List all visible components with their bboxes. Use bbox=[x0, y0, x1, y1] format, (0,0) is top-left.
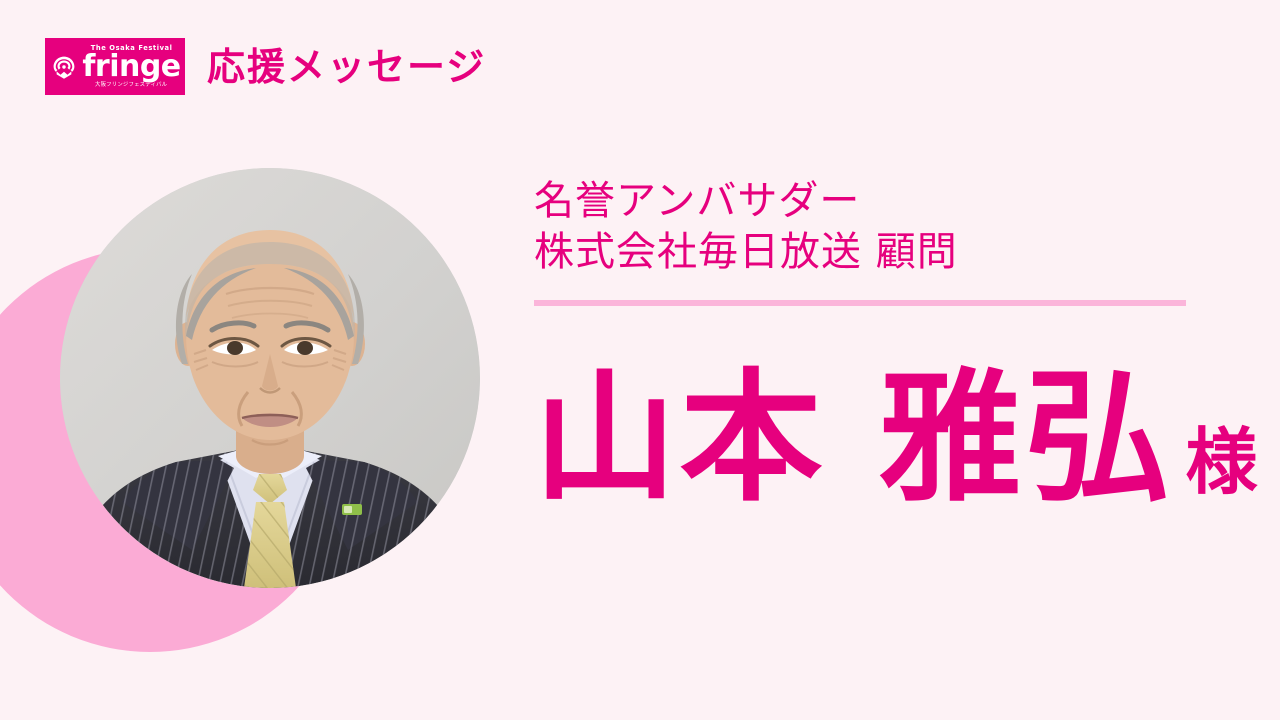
logo-japanese-name: 大阪フリンジフェスティバル bbox=[95, 83, 167, 88]
person-name: 山本 雅弘 bbox=[534, 368, 1171, 510]
role-line-2: 株式会社毎日放送 顧問 bbox=[534, 227, 1194, 278]
header: The Osaka Festival fringe 大阪フリンジフェスティバル … bbox=[45, 38, 486, 95]
logo-tagline: The Osaka Festival bbox=[91, 45, 173, 52]
page-title: 応援メッセージ bbox=[207, 48, 486, 86]
logo-wordmark: fringe bbox=[82, 53, 180, 81]
name-honorific: 様 bbox=[1185, 426, 1257, 498]
name-row: 山本 雅弘 様 bbox=[534, 368, 1194, 510]
fringe-logo-badge[interactable]: The Osaka Festival fringe 大阪フリンジフェスティバル bbox=[45, 38, 185, 95]
message-slide: The Osaka Festival fringe 大阪フリンジフェスティバル … bbox=[0, 0, 1280, 720]
info-column: 名誉アンバサダー 株式会社毎日放送 顧問 山本 雅弘 様 bbox=[534, 176, 1194, 510]
role-line-1: 名誉アンバサダー bbox=[534, 176, 1194, 227]
divider bbox=[534, 300, 1186, 306]
logo-text-block: The Osaka Festival fringe 大阪フリンジフェスティバル bbox=[82, 45, 180, 89]
logo-inner: The Osaka Festival fringe 大阪フリンジフェスティバル bbox=[49, 45, 180, 89]
portrait-illustration bbox=[60, 168, 480, 588]
portrait-photo bbox=[60, 168, 480, 588]
fringe-fan-icon bbox=[51, 54, 77, 80]
